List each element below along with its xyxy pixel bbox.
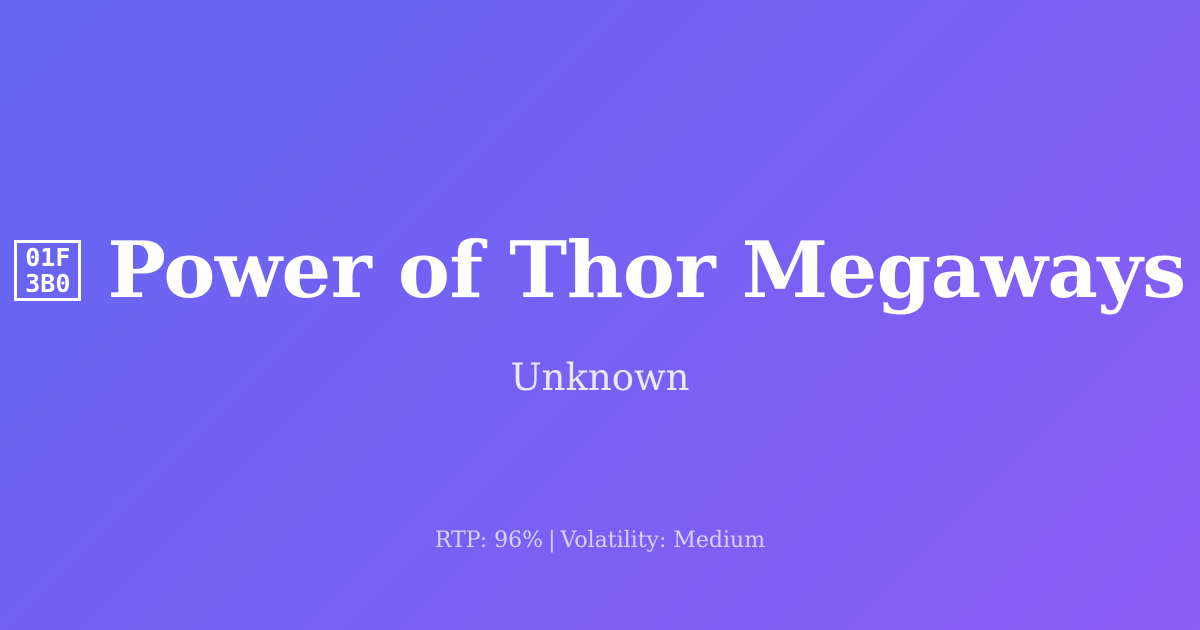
provider-name: Unknown — [510, 357, 689, 400]
game-preview-card: 01F 3B0 Power of Thor Megaways Unknown R… — [0, 0, 1200, 630]
volatility-value: Volatility: Medium — [561, 528, 766, 553]
glyph-codepoint-row-2: 3B0 — [25, 271, 70, 297]
meta-separator: | — [543, 528, 560, 553]
game-meta-line: RTP: 96%|Volatility: Medium — [0, 528, 1200, 554]
slot-machine-icon: 01F 3B0 — [14, 240, 81, 301]
page-title: Power of Thor Megaways — [107, 231, 1185, 311]
glyph-codepoint-row-1: 01F — [25, 245, 70, 271]
rtp-value: RTP: 96% — [435, 528, 543, 553]
title-row: 01F 3B0 Power of Thor Megaways — [0, 231, 1200, 311]
